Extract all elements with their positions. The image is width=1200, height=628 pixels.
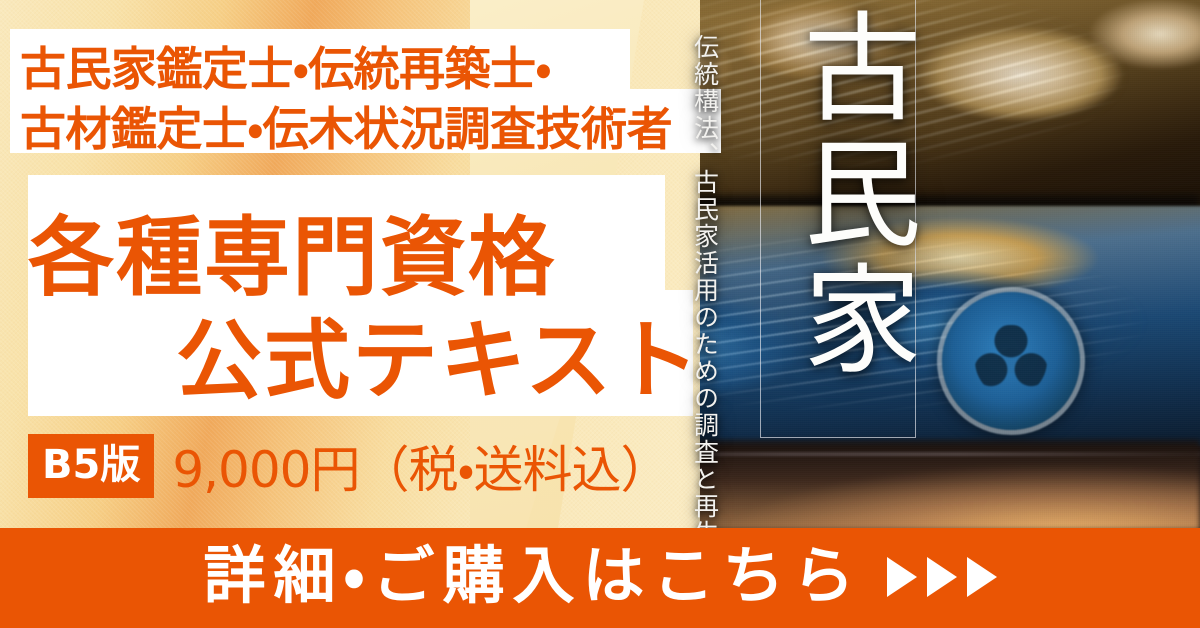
cta-arrow-group — [887, 557, 997, 599]
size-badge: B5版 — [28, 434, 154, 498]
triangle-right-icon — [967, 557, 997, 597]
headline-line2: 公式テキスト — [176, 290, 701, 415]
book-cover-subtitle: 伝統構法、古民家活用のための調査と再生の — [688, 34, 720, 528]
book-cover-title: 古民家 — [756, 6, 920, 384]
cta-label: 詳細・ご購入はこちら — [203, 545, 862, 611]
triangle-right-icon — [887, 557, 917, 597]
promo-banner[interactable]: 古民家 伝統構法、古民家活用のための調査と再生の 古民家鑑定士・伝統再築士・ 古… — [0, 0, 1200, 628]
triangle-right-icon — [927, 557, 957, 597]
cta-bar[interactable]: 詳細・ご購入はこちら — [0, 528, 1200, 628]
certification-line1-text: 古民家鑑定士・伝統再築士・ — [20, 33, 551, 99]
price-row: B5版 9,000円（税・送料込） — [28, 430, 669, 502]
certification-line2-text: 古材鑑定士・伝木状況調査技術者 — [20, 93, 672, 159]
price-text: 9,000円（税・送料込） — [172, 430, 669, 502]
